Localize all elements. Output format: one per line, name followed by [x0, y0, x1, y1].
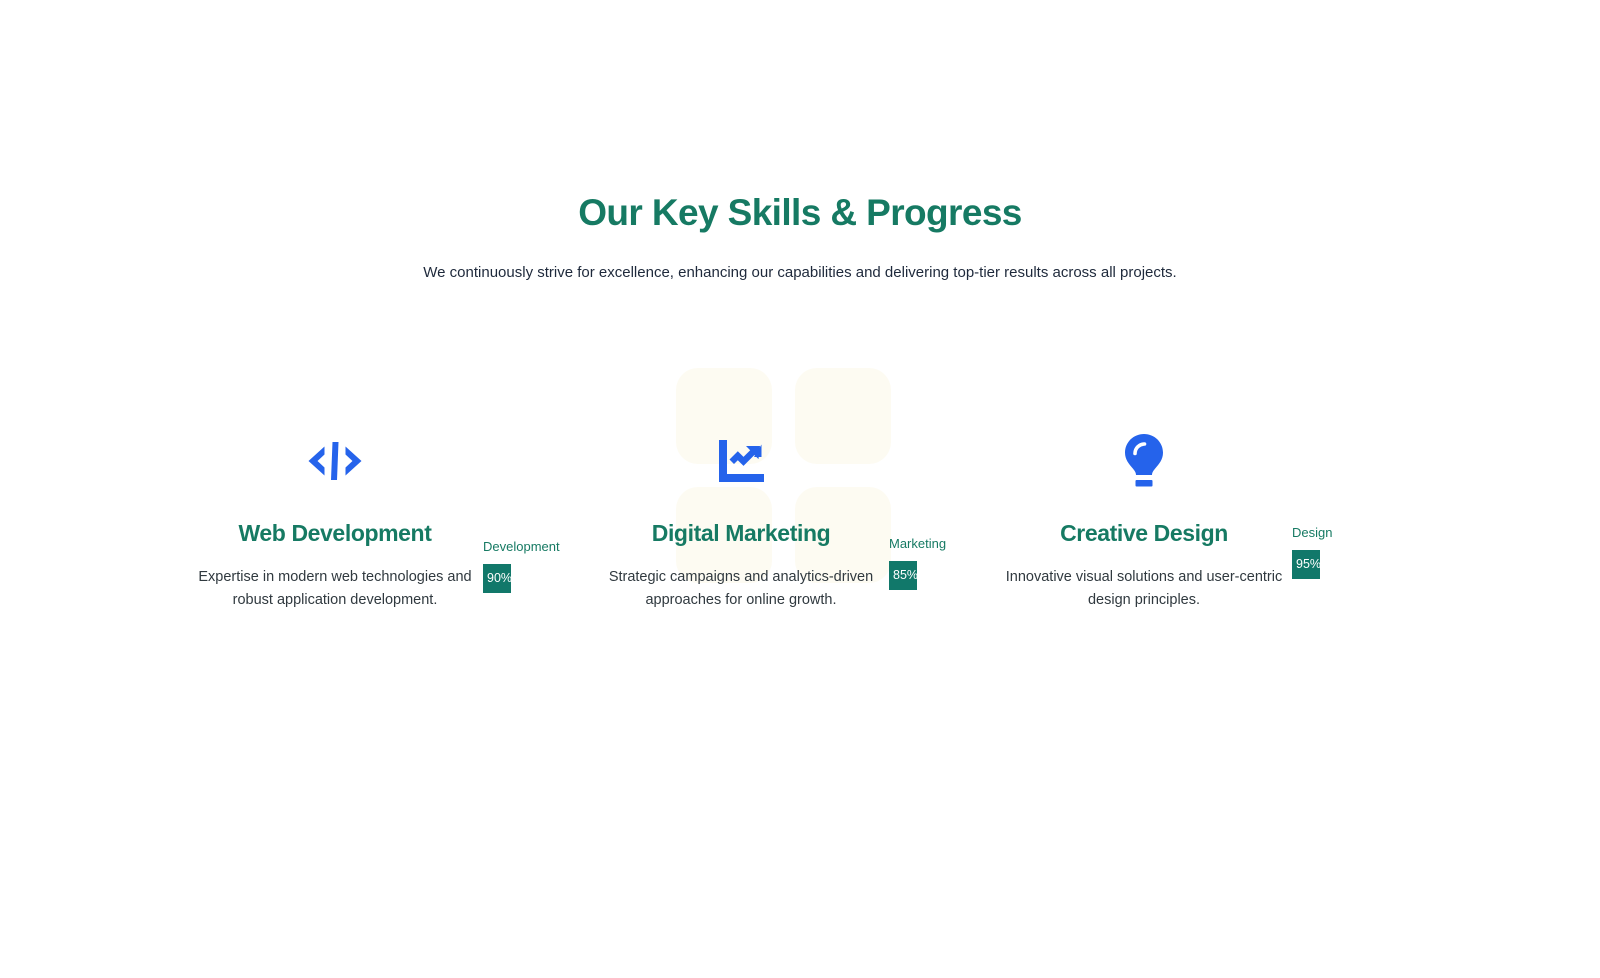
section-header: Our Key Skills & Progress We continuousl…	[0, 190, 1600, 285]
skills-section-page: Our Key Skills & Progress We continuousl…	[0, 0, 1600, 978]
section-subtitle: We continuously strive for excellence, e…	[0, 236, 1600, 285]
card-description: Expertise in modern web technologies and…	[190, 546, 480, 611]
card-title: Digital Marketing	[596, 492, 886, 546]
skill-label: Marketing	[889, 537, 917, 561]
skill-card-web-development[interactable]: Web Development Expertise in modern web …	[190, 430, 480, 611]
card-title: Web Development	[190, 492, 480, 546]
skill-value-badge: 95%	[1292, 550, 1320, 579]
code-icon	[190, 430, 480, 492]
card-title: Creative Design	[999, 492, 1289, 546]
page-title: Our Key Skills & Progress	[0, 190, 1600, 236]
card-description: Strategic campaigns and analytics-driven…	[596, 546, 886, 611]
chart-line-up-icon	[596, 430, 886, 492]
skill-meter-marketing: Marketing 85%	[889, 537, 917, 590]
skill-label: Design	[1292, 526, 1320, 550]
skill-card-creative-design[interactable]: Creative Design Innovative visual soluti…	[999, 430, 1289, 611]
lightbulb-icon	[999, 430, 1289, 492]
skill-value-badge: 85%	[889, 561, 917, 590]
skill-cards-row: Web Development Expertise in modern web …	[0, 430, 1600, 750]
skill-value-badge: 90%	[483, 564, 511, 593]
skill-meter-design: Design 95%	[1292, 526, 1320, 579]
skill-label: Development	[483, 540, 511, 564]
card-description: Innovative visual solutions and user-cen…	[999, 546, 1289, 611]
skill-meter-development: Development 90%	[483, 540, 511, 593]
skill-card-digital-marketing[interactable]: Digital Marketing Strategic campaigns an…	[596, 430, 886, 611]
